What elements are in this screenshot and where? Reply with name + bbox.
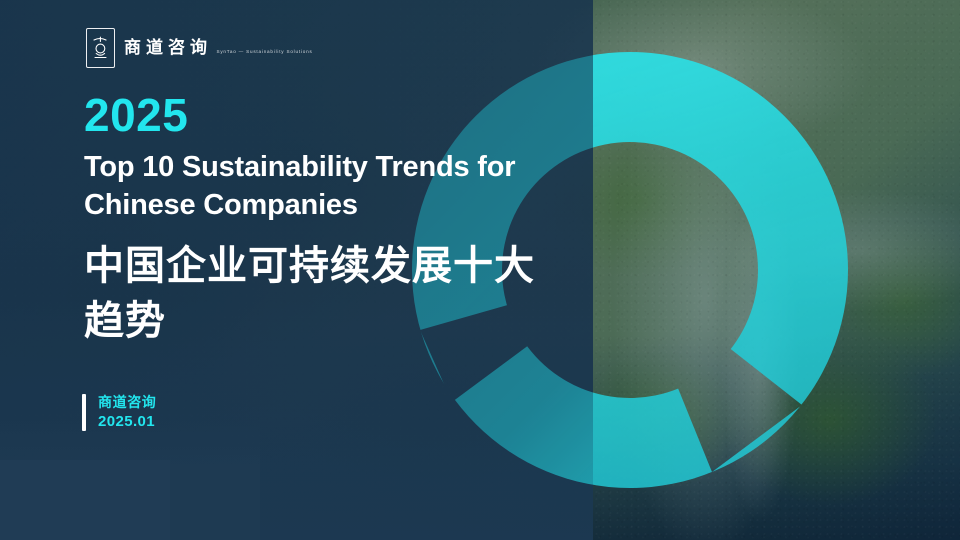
title-slide: 商道咨询 SynTao — Sustainability Solutions 2… xyxy=(0,0,960,540)
syntao-seal-icon xyxy=(86,28,115,68)
bottom-left-corner-block xyxy=(0,460,170,540)
footer-attribution: 商道咨询 2025.01 xyxy=(82,394,156,431)
footer-text-block: 商道咨询 2025.01 xyxy=(98,394,156,431)
headline-title-chinese: 中国企业可持续发展十大趋势 xyxy=(84,239,544,349)
headline-title-english: Top 10 Sustainability Trends for Chinese… xyxy=(84,148,584,225)
logo-tagline-en: SynTao — Sustainability Solutions xyxy=(216,49,312,54)
headline-year: 2025 xyxy=(84,92,604,138)
footer-date: 2025.01 xyxy=(98,412,156,431)
logo-company-name-cn: 商道咨询 xyxy=(124,38,212,57)
footer-accent-bar xyxy=(82,394,86,431)
brand-logo: 商道咨询 SynTao — Sustainability Solutions xyxy=(86,28,313,68)
logo-text-block: 商道咨询 SynTao — Sustainability Solutions xyxy=(124,39,313,57)
headline-block: 2025 Top 10 Sustainability Trends for Ch… xyxy=(84,92,604,349)
footer-organization: 商道咨询 xyxy=(98,394,156,412)
